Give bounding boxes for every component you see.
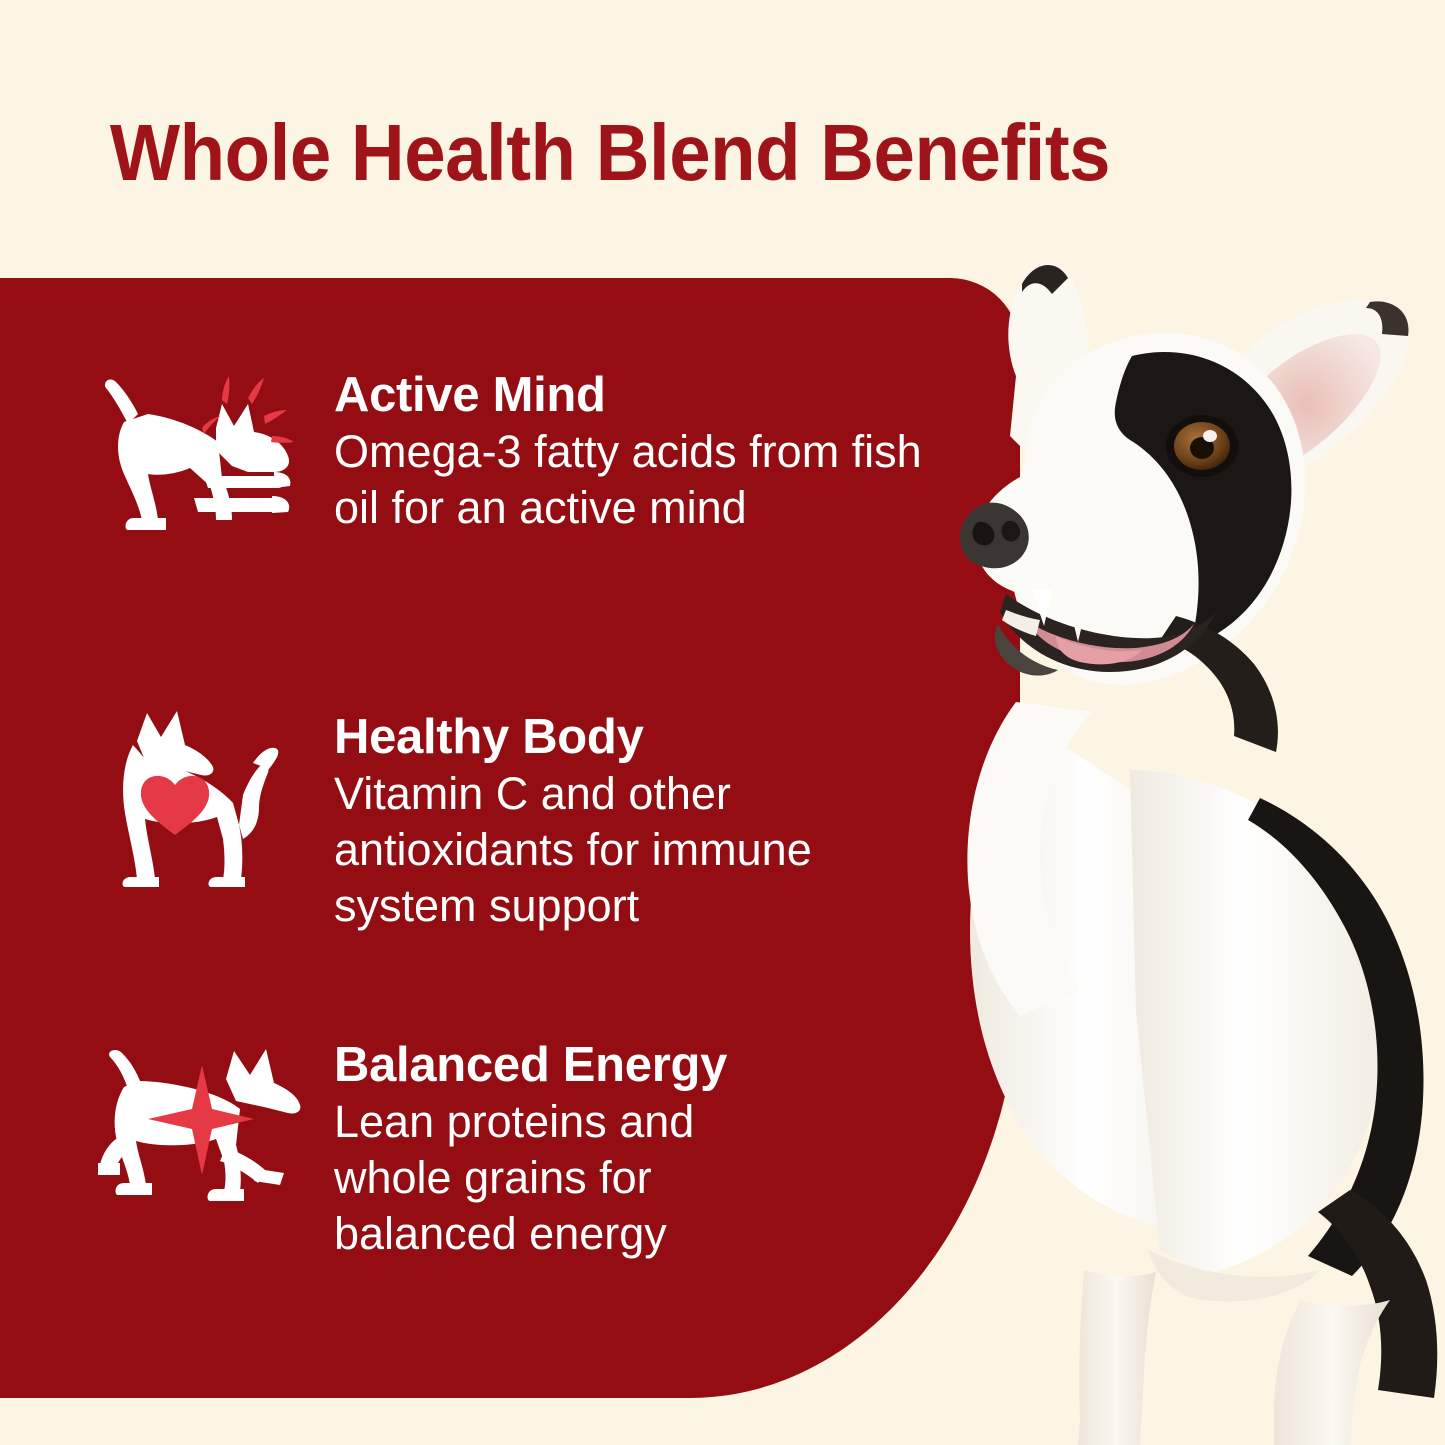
benefit-item-healthy-body: Healthy Body Vitamin C and other antioxi… [88,702,954,934]
benefit-title: Balanced Energy [334,1036,804,1094]
benefit-item-balanced-energy: Balanced Energy Lean proteins and whole … [88,1030,804,1262]
whole-health-blend-infographic: Whole Health Blend Benefits [0,0,1445,1445]
dog-standing-heart-icon [88,702,318,902]
benefit-description: Lean proteins and whole grains for balan… [334,1094,804,1262]
page-title: Whole Health Blend Benefits [43,108,1178,198]
border-collie-dog-photo [830,250,1445,1445]
benefit-text-balanced-energy: Balanced Energy Lean proteins and whole … [334,1030,804,1262]
dog-running-star-icon [88,1030,318,1230]
benefit-item-active-mind: Active Mind Omega-3 fatty acids from fis… [88,360,934,560]
dog-play-bow-sparkle-icon [88,360,318,560]
